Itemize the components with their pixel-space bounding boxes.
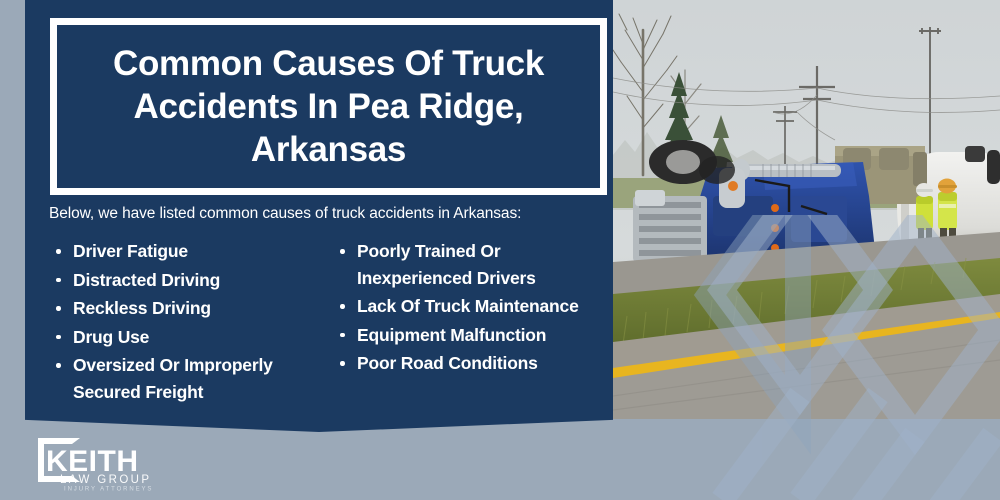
list-item: Poorly Trained Or Inexperienced Drivers (335, 238, 611, 291)
list-item: Oversized Or Improperly Secured Freight (51, 352, 335, 405)
list-item: Driver Fatigue (51, 238, 335, 265)
title-frame: Common Causes Of Truck Accidents In Pea … (50, 18, 607, 195)
logo-line3: INJURY ATTORNEYS (64, 487, 153, 493)
causes-lists: Driver Fatigue Distracted Driving Reckle… (51, 238, 611, 408)
list-item: Drug Use (51, 324, 335, 351)
list-item: Reckless Driving (51, 295, 335, 322)
subtitle-text: Below, we have listed common causes of t… (49, 205, 594, 223)
list-item: Poor Road Conditions (335, 350, 611, 377)
list-item: Distracted Driving (51, 267, 335, 294)
causes-list-right: Poorly Trained Or Inexperienced Drivers … (335, 238, 611, 377)
logo-line2: LAW GROUP (60, 474, 151, 486)
keith-law-group-logo[interactable]: KEITH LAW GROUP INJURY ATTORNEYS (28, 432, 193, 492)
page-title: Common Causes Of Truck Accidents In Pea … (57, 41, 600, 171)
truck-accident-photo (613, 0, 1000, 419)
causes-list-left: Driver Fatigue Distracted Driving Reckle… (51, 238, 335, 406)
list-item: Lack Of Truck Maintenance (335, 293, 611, 320)
logo-mark: KEITH LAW GROUP INJURY ATTORNEYS (28, 432, 193, 492)
causes-left-column: Driver Fatigue Distracted Driving Reckle… (51, 238, 335, 408)
list-item: Equipment Malfunction (335, 322, 611, 349)
photo-illustration (613, 0, 1000, 419)
causes-right-column: Poorly Trained Or Inexperienced Drivers … (335, 238, 611, 408)
content-panel: Common Causes Of Truck Accidents In Pea … (25, 0, 613, 432)
